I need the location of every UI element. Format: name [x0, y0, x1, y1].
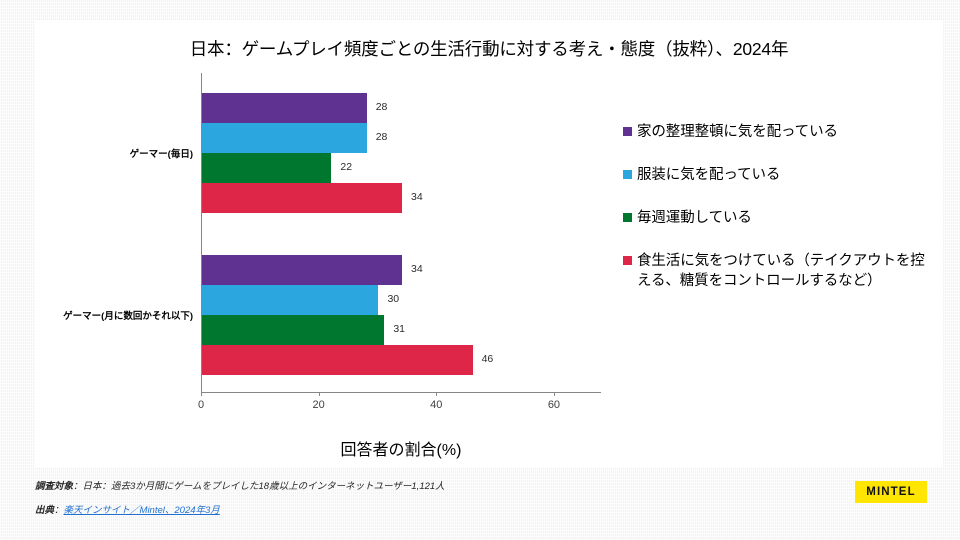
x-tick-label-0: 0: [198, 399, 204, 411]
bar-value-label: 30: [387, 293, 399, 305]
legend-swatch-icon: [623, 127, 632, 136]
footer-source-line: 出典：楽天インサイト／Mintel、2024年3月: [35, 502, 835, 516]
legend-label: 食生活に気をつけている（テイクアウトを控える、糖質をコントロールするなど）: [637, 251, 933, 291]
legend-label: 毎週運動している: [637, 208, 752, 228]
legend-label: 家の整理整頓に気を配っている: [637, 122, 838, 142]
bar[interactable]: [202, 315, 384, 345]
legend-label: 服装に気を配っている: [637, 165, 780, 185]
chart-legend: 家の整理整頓に気を配っている服装に気を配っている毎週運動している食生活に気をつけ…: [623, 122, 933, 314]
bar-value-label: 28: [376, 101, 388, 113]
footer-base-text: ：日本：過去3か月間にゲームをプレイした18歳以上のインターネットユーザー1,1…: [73, 481, 445, 492]
x-tick-20: [319, 392, 320, 396]
footer-source-separator: ：: [54, 505, 64, 516]
chart-footer: 調査対象：日本：過去3か月間にゲームをプレイした18歳以上のインターネットユーザ…: [35, 478, 835, 526]
x-tick-label-20: 20: [313, 399, 325, 411]
plot-area: 0204060 2828223434303146: [201, 73, 621, 393]
bar-value-label: 34: [411, 191, 423, 203]
bar[interactable]: [202, 93, 367, 123]
mintel-logo-text: MINTEL: [866, 486, 915, 498]
legend-item[interactable]: 家の整理整頓に気を配っている: [623, 122, 933, 142]
x-tick-label-60: 60: [548, 399, 560, 411]
legend-item[interactable]: 毎週運動している: [623, 208, 933, 228]
bar-value-label: 34: [411, 263, 423, 275]
footer-base-key: 調査対象: [35, 481, 73, 492]
legend-swatch-icon: [623, 170, 632, 179]
bar[interactable]: [202, 183, 402, 213]
x-tick-40: [436, 392, 437, 396]
x-axis-line: [201, 392, 601, 393]
legend-item[interactable]: 服装に気を配っている: [623, 165, 933, 185]
mintel-logo: MINTEL: [855, 481, 927, 503]
x-tick-60: [554, 392, 555, 396]
bar-value-label: 22: [340, 161, 352, 173]
footer-source-link[interactable]: 楽天インサイト／Mintel、2024年3月: [64, 505, 220, 516]
bar-value-label: 31: [393, 323, 405, 335]
legend-swatch-icon: [623, 213, 632, 222]
legend-swatch-icon: [623, 256, 632, 265]
bar[interactable]: [202, 285, 378, 315]
bar[interactable]: [202, 345, 473, 375]
bar-value-label: 46: [482, 353, 494, 365]
legend-item[interactable]: 食生活に気をつけている（テイクアウトを控える、糖質をコントロールするなど）: [623, 251, 933, 291]
bar[interactable]: [202, 255, 402, 285]
footer-base-line: 調査対象：日本：過去3か月間にゲームをプレイした18歳以上のインターネットユーザ…: [35, 478, 835, 492]
bar[interactable]: [202, 153, 331, 183]
x-tick-label-40: 40: [430, 399, 442, 411]
chart-card: 日本：ゲームプレイ頻度ごとの生活行動に対する考え・態度（抜粋）、2024年 02…: [35, 20, 943, 467]
category-label: ゲーマー(毎日): [130, 146, 193, 160]
chart-title: 日本：ゲームプレイ頻度ごとの生活行動に対する考え・態度（抜粋）、2024年: [35, 36, 943, 61]
x-tick-0: [201, 392, 202, 396]
chart-page: 日本：ゲームプレイ頻度ごとの生活行動に対する考え・態度（抜粋）、2024年 02…: [0, 0, 960, 540]
x-axis-title: 回答者の割合(%): [201, 436, 601, 460]
footer-source-key: 出典: [35, 505, 54, 516]
bar[interactable]: [202, 123, 367, 153]
category-label: ゲーマー(月に数回かそれ以下): [63, 308, 193, 322]
bar-value-label: 28: [376, 131, 388, 143]
